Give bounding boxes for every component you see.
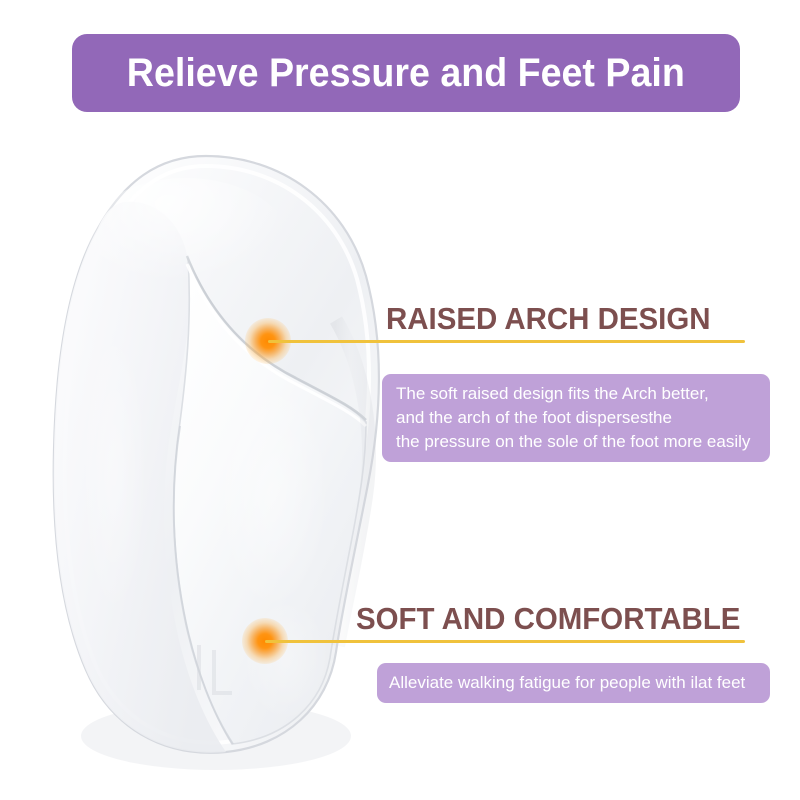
callout-body-line: Alleviate walking fatigue for people wit… — [389, 671, 758, 695]
callout-heading: SOFT AND COMFORTABLE — [356, 603, 740, 634]
page-title: Relieve Pressure and Feet Pain — [127, 53, 685, 93]
callout-body-line: the pressure on the sole of the foot mor… — [396, 430, 756, 454]
product-image — [36, 140, 396, 780]
callout-body-line: and the arch of the foot dispersesthe — [396, 406, 756, 430]
header-banner: Relieve Pressure and Feet Pain — [72, 34, 740, 112]
leader-line — [265, 640, 745, 643]
callout-text-box: Alleviate walking fatigue for people wit… — [377, 663, 770, 703]
callout-text-box: The soft raised design fits the Arch bet… — [382, 374, 770, 462]
callout-body-line: The soft raised design fits the Arch bet… — [396, 382, 756, 406]
callout-heading: RAISED ARCH DESIGN — [386, 303, 711, 334]
leader-line — [268, 340, 745, 343]
infographic-page: Relieve Pressure and Feet Pain — [0, 0, 800, 800]
